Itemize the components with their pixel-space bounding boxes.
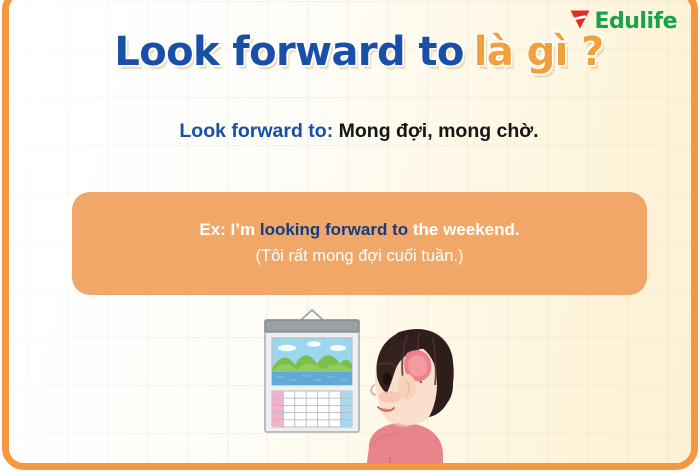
example-sentence: Ex: I’m looking forward to the weekend. (199, 220, 519, 240)
girl-looking-at-wall-calendar-illustration (257, 307, 467, 470)
orange-card-frame: Look forward tolà gì ? Edulife Look forw… (2, 0, 698, 470)
infographic-card: Look forward tolà gì ? Edulife Look forw… (0, 0, 700, 475)
definition-line: Look forward to: Mong đợi, mong chờ. (9, 120, 698, 143)
page-title: Look forward tolà gì ? (9, 32, 698, 72)
example-prefix: Ex: I’m (199, 220, 259, 239)
example-highlight-phrase: looking forward to (260, 220, 408, 239)
title-english-phrase: Look forward to (114, 29, 463, 75)
edulife-triangle-logo-icon (568, 7, 592, 36)
example-suffix: the weekend. (408, 220, 519, 239)
edulife-logo-text: Edulife (594, 11, 677, 33)
example-translation: (Tôi rất mong đợi cuối tuần.) (256, 247, 464, 267)
definition-term: Look forward to: (179, 120, 333, 142)
edulife-logo[interactable]: Edulife (568, 7, 677, 36)
definition-meaning: Mong đợi, mong chờ. (339, 120, 539, 142)
example-box: Ex: I’m looking forward to the weekend. … (72, 192, 647, 295)
